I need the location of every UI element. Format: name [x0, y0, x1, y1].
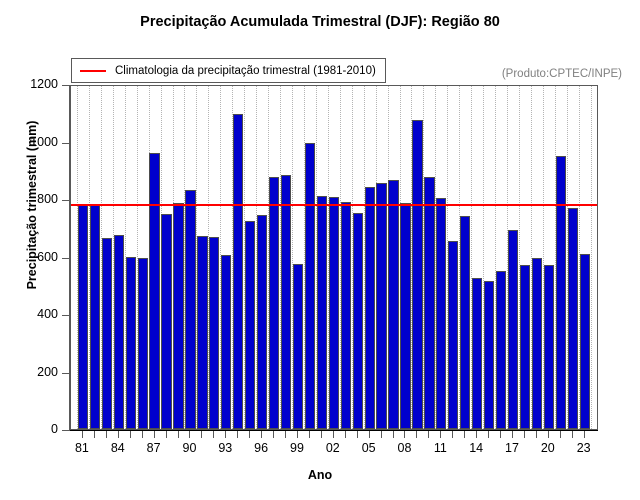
y-axis-tick: [62, 143, 70, 144]
x-axis-tick: [130, 431, 131, 438]
bar: [173, 203, 183, 429]
x-axis-tick: [309, 431, 310, 438]
x-axis-tick-label: 11: [420, 441, 460, 455]
x-axis-tick: [345, 431, 346, 438]
bar: [329, 197, 339, 429]
x-axis-tick: [118, 431, 119, 438]
legend-line-swatch-icon: [80, 70, 106, 72]
x-axis: [70, 430, 598, 431]
plot-area: [70, 85, 598, 430]
x-axis-tick-label: 81: [62, 441, 102, 455]
x-axis-tick-label: 23: [564, 441, 604, 455]
bar: [412, 120, 422, 429]
x-axis-tick: [440, 431, 441, 438]
page-title: Precipitação Acumulada Trimestral (DJF):…: [0, 14, 640, 30]
x-axis-tick: [249, 431, 250, 438]
bar: [400, 203, 410, 429]
x-axis-tick: [273, 431, 274, 438]
legend-label: Climatologia da precipitação trimestral …: [115, 65, 376, 77]
x-axis-tick: [500, 431, 501, 438]
bars-layer: [71, 86, 597, 429]
x-axis-tick-label: 96: [241, 441, 281, 455]
bar: [90, 205, 100, 429]
x-axis-tick: [524, 431, 525, 438]
bar: [221, 255, 231, 429]
x-axis-tick: [381, 431, 382, 438]
product-annotation: (Produto:CPTEC/INPE): [502, 68, 622, 80]
x-axis-tick: [572, 431, 573, 438]
bar: [233, 114, 243, 429]
x-axis-tick: [357, 431, 358, 438]
x-axis-tick-label: 02: [313, 441, 353, 455]
bar: [388, 180, 398, 429]
legend: Climatologia da precipitação trimestral …: [71, 58, 386, 83]
x-axis-tick: [297, 431, 298, 438]
y-axis-title: Precipitação trimestral (mm): [25, 70, 39, 340]
x-axis-tick: [536, 431, 537, 438]
x-axis-tick: [166, 431, 167, 438]
bar: [114, 235, 124, 429]
x-axis-tick-label: 20: [528, 441, 568, 455]
x-axis-tick-label: 84: [98, 441, 138, 455]
x-axis-tick: [560, 431, 561, 438]
x-axis-tick: [321, 431, 322, 438]
y-axis-tick: [62, 430, 70, 431]
bar: [436, 198, 446, 429]
y-axis-tick: [62, 85, 70, 86]
x-axis-tick: [476, 431, 477, 438]
y-axis-tick: [62, 315, 70, 316]
x-axis-tick-label: 14: [456, 441, 496, 455]
x-axis-tick: [189, 431, 190, 438]
x-axis-tick-label: 99: [277, 441, 317, 455]
x-axis-tick: [142, 431, 143, 438]
bar: [209, 237, 219, 429]
bar: [317, 196, 327, 429]
x-axis-tick-label: 90: [169, 441, 209, 455]
x-axis-tick: [201, 431, 202, 438]
y-axis-tick: [62, 258, 70, 259]
bar: [484, 281, 494, 429]
bar: [102, 238, 112, 429]
x-axis-tick: [464, 431, 465, 438]
bar: [520, 265, 530, 429]
bar: [556, 156, 566, 429]
y-axis-tick-label: 200: [0, 365, 58, 379]
bar: [341, 202, 351, 429]
x-axis-tick: [261, 431, 262, 438]
y-axis-tick: [62, 200, 70, 201]
bar: [460, 216, 470, 429]
bar: [305, 143, 315, 429]
x-axis-tick-label: 17: [492, 441, 532, 455]
y-axis-tick-label: 0: [0, 422, 58, 436]
x-axis-tick: [428, 431, 429, 438]
y-axis-tick: [62, 373, 70, 374]
bar: [376, 183, 386, 429]
bar: [508, 230, 518, 429]
bar: [365, 187, 375, 429]
bar: [138, 258, 148, 429]
x-axis-tick: [237, 431, 238, 438]
bar: [568, 208, 578, 429]
x-axis-tick: [178, 431, 179, 438]
x-axis-tick: [369, 431, 370, 438]
x-axis-tick: [154, 431, 155, 438]
bar: [448, 241, 458, 429]
bar: [257, 215, 267, 429]
x-axis-tick: [404, 431, 405, 438]
x-axis-tick: [106, 431, 107, 438]
x-axis-tick-label: 05: [349, 441, 389, 455]
x-axis-tick: [512, 431, 513, 438]
x-axis-tick: [416, 431, 417, 438]
bar: [424, 177, 434, 429]
bar: [580, 254, 590, 429]
x-axis-title: Ano: [0, 468, 640, 482]
x-axis-tick-label: 93: [205, 441, 245, 455]
x-axis-tick: [584, 431, 585, 438]
x-axis-tick: [488, 431, 489, 438]
bar: [78, 204, 88, 429]
x-axis-tick: [452, 431, 453, 438]
bar: [281, 175, 291, 429]
x-axis-tick: [94, 431, 95, 438]
climatology-reference-line: [71, 204, 597, 206]
bar: [269, 177, 279, 429]
chart-root: Precipitação Acumulada Trimestral (DJF):…: [0, 0, 640, 500]
bar: [161, 214, 171, 429]
bar: [149, 153, 159, 429]
x-axis-tick: [213, 431, 214, 438]
x-axis-tick: [285, 431, 286, 438]
x-axis-tick: [393, 431, 394, 438]
x-axis-tick: [82, 431, 83, 438]
x-axis-tick: [333, 431, 334, 438]
x-axis-tick-label: 08: [384, 441, 424, 455]
x-axis-tick: [225, 431, 226, 438]
bar: [197, 236, 207, 429]
bar: [532, 258, 542, 429]
bar: [544, 265, 554, 429]
bar: [472, 278, 482, 430]
bar: [293, 264, 303, 429]
bar: [496, 271, 506, 429]
x-axis-tick-label: 87: [134, 441, 174, 455]
bar: [245, 221, 255, 429]
bar: [126, 257, 136, 429]
bar: [185, 190, 195, 429]
bar: [353, 213, 363, 429]
x-axis-tick: [548, 431, 549, 438]
